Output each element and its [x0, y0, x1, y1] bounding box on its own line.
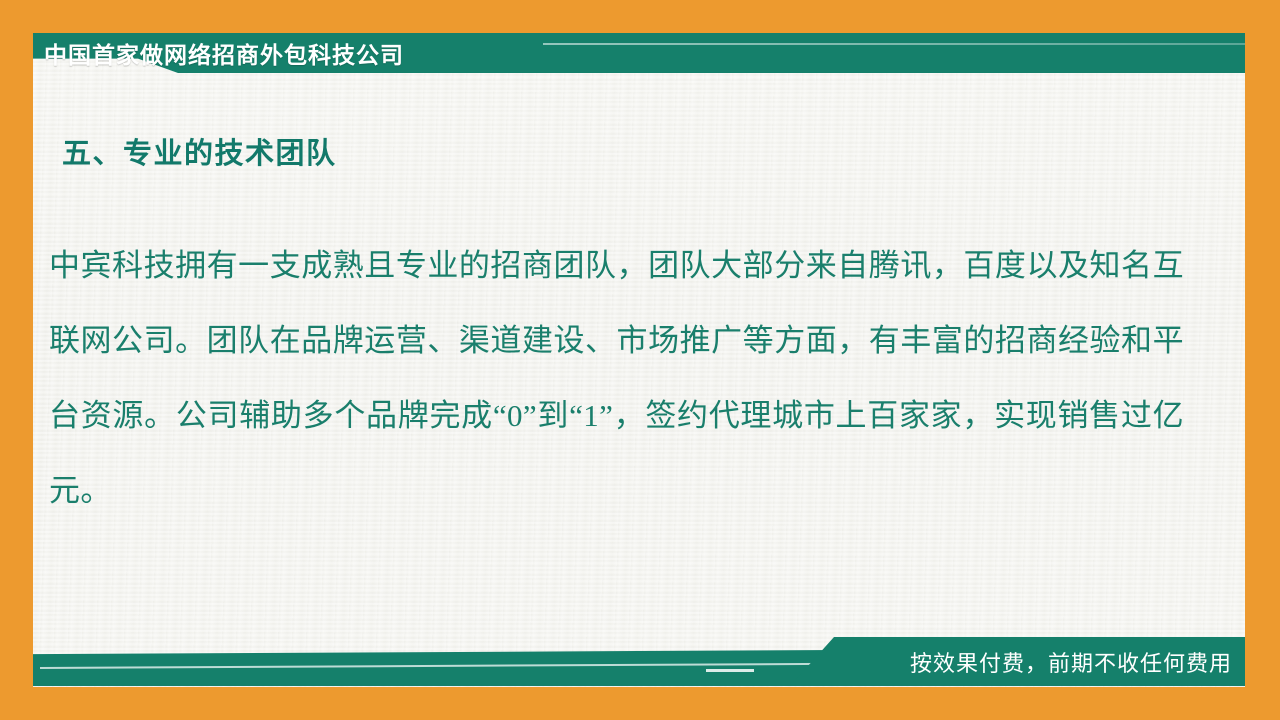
- body-paragraph: 中宾科技拥有一支成熟且专业的招商团队，团队大部分来自腾讯，百度以及知名互联网公司…: [49, 228, 1184, 528]
- header-hairline-divider: [543, 43, 1245, 45]
- presentation-slide: 中国首家做网络招商外包科技公司 五、专业的技术团队 中宾科技拥有一支成熟且专业的…: [0, 0, 1280, 720]
- footer-dash-accent: [706, 669, 754, 672]
- section-heading: 五、专业的技术团队: [62, 130, 337, 172]
- header-title: 中国首家做网络招商外包科技公司: [44, 33, 404, 73]
- footer-tagline: 按效果付费，前期不收任何费用: [910, 637, 1232, 686]
